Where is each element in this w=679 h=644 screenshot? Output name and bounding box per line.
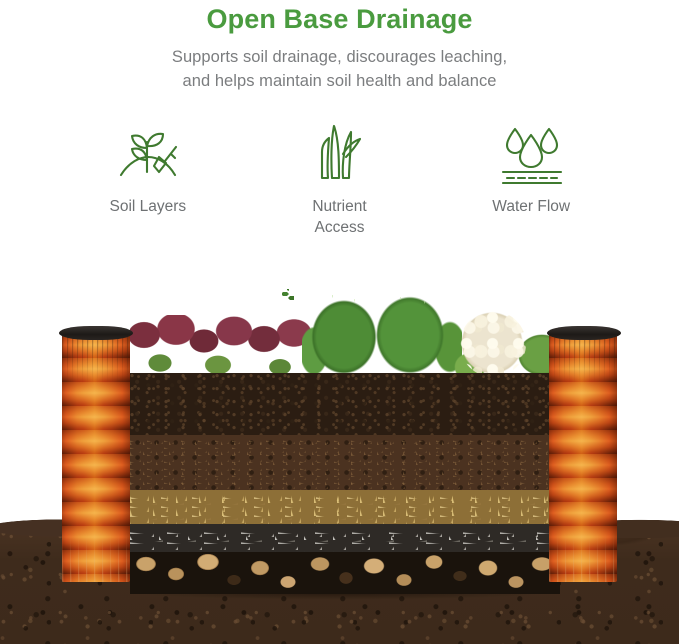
cauliflower [450, 301, 562, 381]
feature-water-flow: Water Flow [435, 118, 627, 217]
subtitle-line-2: and helps maintain soil health and balan… [0, 69, 679, 93]
subtitle-line-1: Supports soil drainage, discourages leac… [0, 45, 679, 69]
feature-list: Soil Layers Nutrient Access [0, 118, 679, 238]
water-droplets-drainage-icon [492, 118, 570, 184]
feature-label-water-flow: Water Flow [492, 196, 570, 217]
sprout-shovel-soil-icon [109, 118, 187, 184]
header: Open Base Drainage Supports soil drainag… [0, 0, 679, 93]
seedling-sprout [282, 289, 294, 311]
corrugated-panel-left [62, 334, 130, 582]
feature-nutrient-access: Nutrient Access [244, 118, 436, 238]
panel-left-rim [59, 326, 133, 340]
page-subtitle: Supports soil drainage, discourages leac… [0, 45, 679, 93]
feature-label-nutrient-access: Nutrient Access [312, 196, 366, 238]
page-title: Open Base Drainage [0, 2, 679, 36]
brown-soil-layer [130, 435, 560, 490]
panel-right-body [549, 334, 617, 582]
panel-left-body [62, 334, 130, 582]
soil-cross-section [130, 373, 560, 594]
twigs-branches-layer [130, 524, 560, 552]
feature-label-soil-layers: Soil Layers [109, 196, 186, 217]
panel-right-rim [547, 326, 621, 340]
feature-soil-layers: Soil Layers [52, 118, 244, 217]
plant-row [130, 283, 560, 381]
green-romaine-lettuce [302, 285, 462, 381]
log-wood-base-layer [130, 552, 560, 594]
product-photo [0, 278, 679, 644]
straw-hay-layer [130, 490, 560, 524]
red-leaf-lettuce [130, 315, 315, 381]
dark-compost-layer [130, 373, 560, 435]
grass-blades-icon [301, 118, 379, 184]
feature-label-line-2: Access [312, 217, 366, 238]
raised-garden-bed [62, 278, 617, 594]
corrugated-panel-right [549, 334, 617, 582]
feature-label-line-1: Nutrient [312, 196, 366, 217]
